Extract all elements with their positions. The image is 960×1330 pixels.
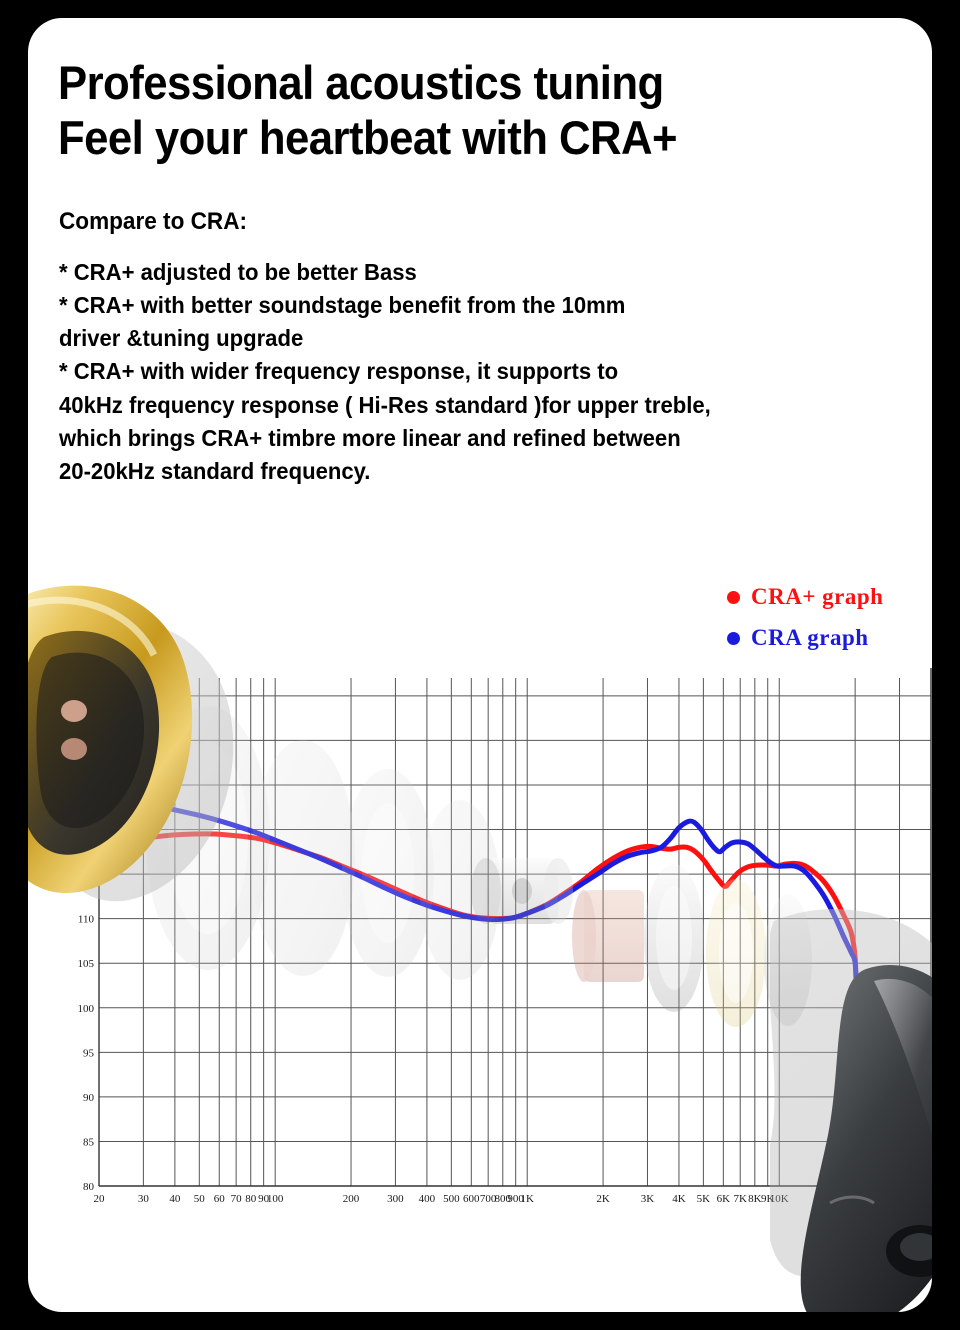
- svg-text:105: 105: [78, 958, 95, 970]
- svg-text:40: 40: [169, 1193, 181, 1205]
- svg-text:20: 20: [94, 1193, 106, 1205]
- svg-text:50: 50: [194, 1193, 206, 1205]
- svg-text:135: 135: [78, 691, 95, 703]
- chart-series: [99, 799, 859, 1095]
- svg-text:100: 100: [78, 1003, 95, 1015]
- svg-text:3K: 3K: [641, 1193, 655, 1205]
- svg-text:60: 60: [214, 1193, 226, 1205]
- svg-text:20K: 20K: [846, 1193, 865, 1205]
- svg-text:30: 30: [138, 1193, 150, 1205]
- svg-text:6K: 6K: [717, 1193, 731, 1205]
- frequency-response-chart: 8085909510010511011512012513013520304050…: [28, 578, 932, 1228]
- x-axis-tick-labels: 2030405060708090100200300400500600700800…: [94, 1193, 933, 1205]
- svg-text:7K: 7K: [733, 1193, 747, 1205]
- svg-text:110: 110: [78, 914, 95, 926]
- feature-bullet-list: * CRA+ adjusted to be better Bass * CRA+…: [59, 256, 858, 488]
- page-title: Professional acoustics tuning Feel your …: [58, 56, 849, 165]
- svg-text:95: 95: [83, 1047, 95, 1059]
- chart-axes: [99, 668, 931, 1186]
- svg-text:2K: 2K: [596, 1193, 610, 1205]
- svg-text:125: 125: [78, 780, 95, 792]
- svg-text:85: 85: [83, 1136, 95, 1148]
- svg-text:10K: 10K: [770, 1193, 789, 1205]
- svg-text:300: 300: [387, 1193, 404, 1205]
- svg-text:90: 90: [83, 1092, 95, 1104]
- svg-text:120: 120: [78, 825, 95, 837]
- svg-text:4K: 4K: [672, 1193, 686, 1205]
- chart-gridlines: [99, 678, 931, 1186]
- compare-subheading: Compare to CRA:: [59, 208, 247, 236]
- svg-text:5K: 5K: [697, 1193, 711, 1205]
- svg-text:8K: 8K: [748, 1193, 762, 1205]
- svg-text:30K: 30K: [890, 1193, 909, 1205]
- svg-text:70: 70: [231, 1193, 243, 1205]
- y-axis-tick-labels: 80859095100105110115120125130135: [78, 691, 95, 1193]
- info-card: Professional acoustics tuning Feel your …: [28, 18, 932, 1312]
- svg-text:100: 100: [267, 1193, 284, 1205]
- svg-text:115: 115: [78, 869, 95, 881]
- svg-text:400: 400: [419, 1193, 436, 1205]
- svg-text:600: 600: [463, 1193, 480, 1205]
- svg-text:130: 130: [78, 735, 95, 747]
- svg-text:40K: 40K: [922, 1193, 932, 1205]
- series-line: [99, 834, 859, 1095]
- svg-text:80: 80: [245, 1193, 257, 1205]
- svg-text:1K: 1K: [520, 1193, 534, 1205]
- svg-text:80: 80: [83, 1181, 95, 1193]
- svg-text:500: 500: [443, 1193, 460, 1205]
- series-line: [99, 799, 859, 1056]
- svg-text:200: 200: [343, 1193, 360, 1205]
